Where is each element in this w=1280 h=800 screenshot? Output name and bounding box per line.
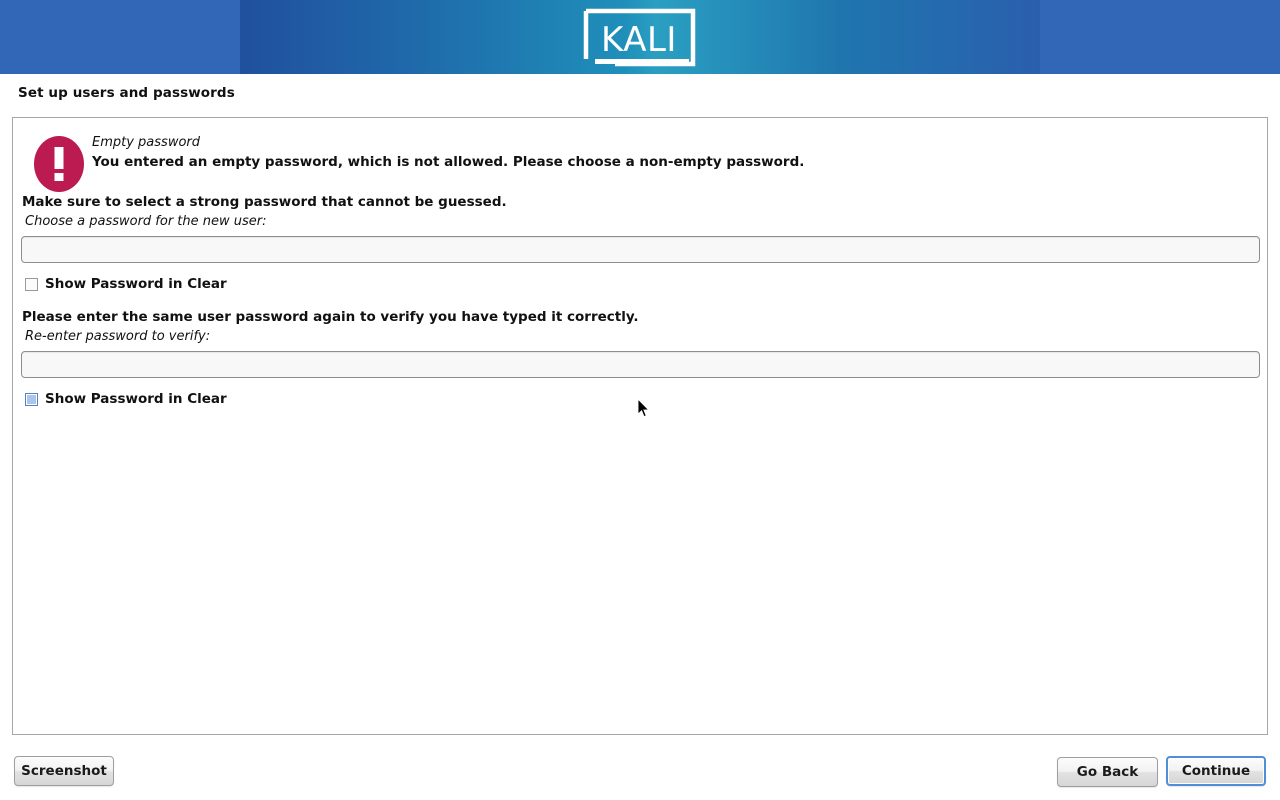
main-panel: Empty password You entered an empty pass… — [12, 117, 1268, 735]
show-password-checkbox-1[interactable] — [25, 278, 38, 291]
password-strength-hint: Make sure to select a strong password th… — [22, 194, 507, 210]
password-input[interactable] — [21, 236, 1260, 263]
show-password-clear-row-1[interactable]: Show Password in Clear — [22, 277, 242, 295]
show-password-clear-row-2[interactable]: Show Password in Clear — [22, 392, 242, 410]
show-password-checkbox-2[interactable] — [25, 393, 38, 406]
error-message-block: Empty password You entered an empty pass… — [22, 126, 1262, 188]
show-password-label-1: Show Password in Clear — [45, 276, 227, 292]
go-back-button[interactable]: Go Back — [1057, 757, 1158, 787]
error-title: Empty password — [92, 135, 200, 150]
svg-text:KALI: KALI — [601, 20, 677, 60]
password-label: Choose a password for the new user: — [25, 214, 267, 229]
kali-banner: KALI — [0, 0, 1280, 74]
verify-password-hint: Please enter the same user password agai… — [22, 309, 639, 325]
show-password-label-2: Show Password in Clear — [45, 391, 227, 407]
error-message: You entered an empty password, which is … — [92, 154, 804, 170]
kali-logo: KALI — [583, 8, 696, 67]
verify-password-input[interactable] — [21, 351, 1260, 378]
verify-password-label: Re-enter password to verify: — [25, 329, 210, 344]
screenshot-button[interactable]: Screenshot — [14, 756, 114, 786]
installer-window: KALI Set up users and passwords Empty pa… — [0, 0, 1280, 800]
continue-button[interactable]: Continue — [1166, 756, 1266, 786]
error-exclamation-icon — [34, 136, 84, 192]
page-title: Set up users and passwords — [18, 85, 235, 101]
